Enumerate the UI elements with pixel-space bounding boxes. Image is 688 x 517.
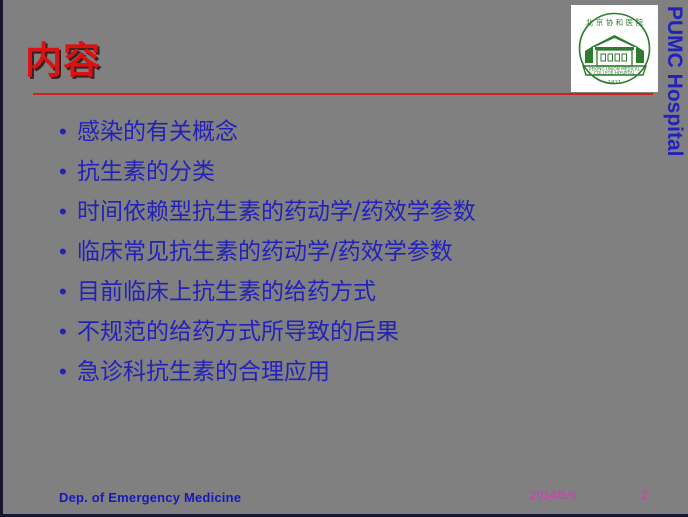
list-item-label: 不规范的给药方式所导致的后果 <box>77 320 399 345</box>
list-item: • 不规范的给药方式所导致的后果 <box>59 320 659 360</box>
list-item: • 感染的有关概念 <box>59 120 659 160</box>
list-item: • 目前临床上抗生素的给药方式 <box>59 280 659 320</box>
bullet-marker-icon: • <box>59 161 77 183</box>
list-item-label: 临床常见抗生素的药动学/药效学参数 <box>77 240 453 265</box>
list-item-label: 感染的有关概念 <box>77 120 238 145</box>
list-item-label: 急诊科抗生素的合理应用 <box>77 360 330 385</box>
pumc-hospital-logo: 北 京 协 和 医 院 PEKING UNION MEDICAL COLLEGE… <box>571 5 658 92</box>
list-item: • 抗生素的分类 <box>59 160 659 200</box>
page-title: 内容 <box>25 42 101 79</box>
brand-vertical-label: PUMC Hospital <box>661 6 687 176</box>
svg-text:COLLEGE HOSPITAL: COLLEGE HOSPITAL <box>594 71 636 76</box>
list-item-label: 目前临床上抗生素的给药方式 <box>77 280 376 305</box>
list-item: • 临床常见抗生素的药动学/药效学参数 <box>59 240 659 280</box>
pumc-hospital-logo-icon: 北 京 协 和 医 院 PEKING UNION MEDICAL COLLEGE… <box>571 5 658 92</box>
list-item: • 时间依赖型抗生素的药动学/药效学参数 <box>59 200 659 240</box>
list-item: • 急诊科抗生素的合理应用 <box>59 360 659 400</box>
footer-department: Dep. of Emergency Medicine <box>59 490 241 505</box>
footer-page-number: 2 <box>641 488 648 502</box>
svg-text:北 京 协 和 医 院: 北 京 协 和 医 院 <box>586 17 643 27</box>
bullet-marker-icon: • <box>59 321 77 343</box>
bullet-marker-icon: • <box>59 121 77 143</box>
bullet-marker-icon: • <box>59 281 77 303</box>
bullet-marker-icon: • <box>59 201 77 223</box>
brand-vertical-label-text: PUMC Hospital <box>662 6 686 157</box>
svg-text:1921: 1921 <box>608 80 622 86</box>
bullet-list: • 感染的有关概念 • 抗生素的分类 • 时间依赖型抗生素的药动学/药效学参数 … <box>59 120 659 400</box>
footer-date: 2014/5/6 <box>530 488 577 502</box>
title-divider <box>33 93 653 95</box>
bullet-marker-icon: • <box>59 361 77 383</box>
presentation-slide: 内容 北 京 协 和 医 院 PEKING UNION MEDICAL <box>0 0 688 517</box>
bullet-marker-icon: • <box>59 241 77 263</box>
list-item-label: 时间依赖型抗生素的药动学/药效学参数 <box>77 200 476 225</box>
list-item-label: 抗生素的分类 <box>77 160 215 185</box>
